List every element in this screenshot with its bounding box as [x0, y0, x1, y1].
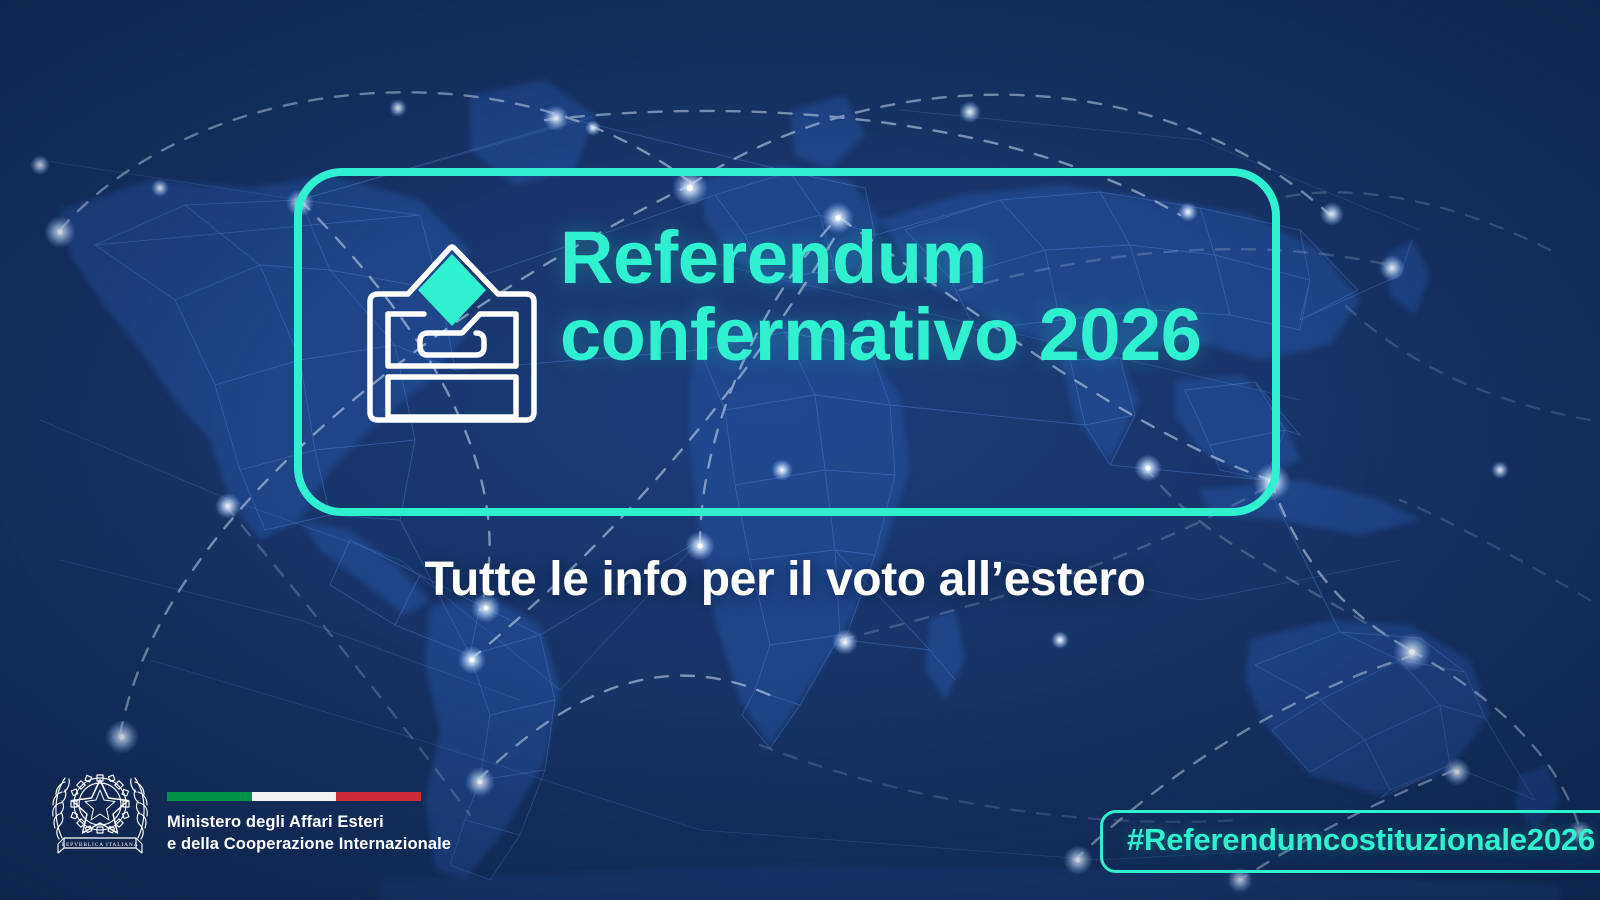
flag-band-red — [336, 792, 421, 801]
ballot-box-icon — [362, 214, 542, 426]
headline-frame: Referendum confermativo 2026 — [294, 168, 1280, 516]
emblem-of-the-italian-republic: REPVBBLICA ITALIANA — [48, 752, 152, 864]
italian-tricolour-bar — [167, 792, 421, 801]
hashtag-badge[interactable]: #Referendumcostituzionale2026 — [1100, 810, 1600, 873]
ministry-lockup: REPVBBLICA ITALIANA Ministero degli Affa… — [48, 752, 451, 864]
ministry-name: Ministero degli Affari Esteri e della Co… — [167, 812, 451, 856]
flag-band-green — [167, 792, 252, 801]
title-line-2: confermativo 2026 — [560, 297, 1266, 374]
subtitle: Tutte le info per il voto all’estero — [0, 552, 1570, 607]
ministry-name-line-1: Ministero degli Affari Esteri — [167, 812, 451, 834]
ministry-text-block: Ministero degli Affari Esteri e della Co… — [167, 752, 451, 856]
flag-band-white — [252, 792, 337, 801]
title-line-1: Referendum — [560, 220, 1266, 297]
emblem-ribbon-text: REPVBBLICA ITALIANA — [61, 842, 138, 848]
ministry-name-line-2: e della Cooperazione Internazionale — [167, 834, 451, 856]
page-title: Referendum confermativo 2026 — [560, 220, 1266, 374]
